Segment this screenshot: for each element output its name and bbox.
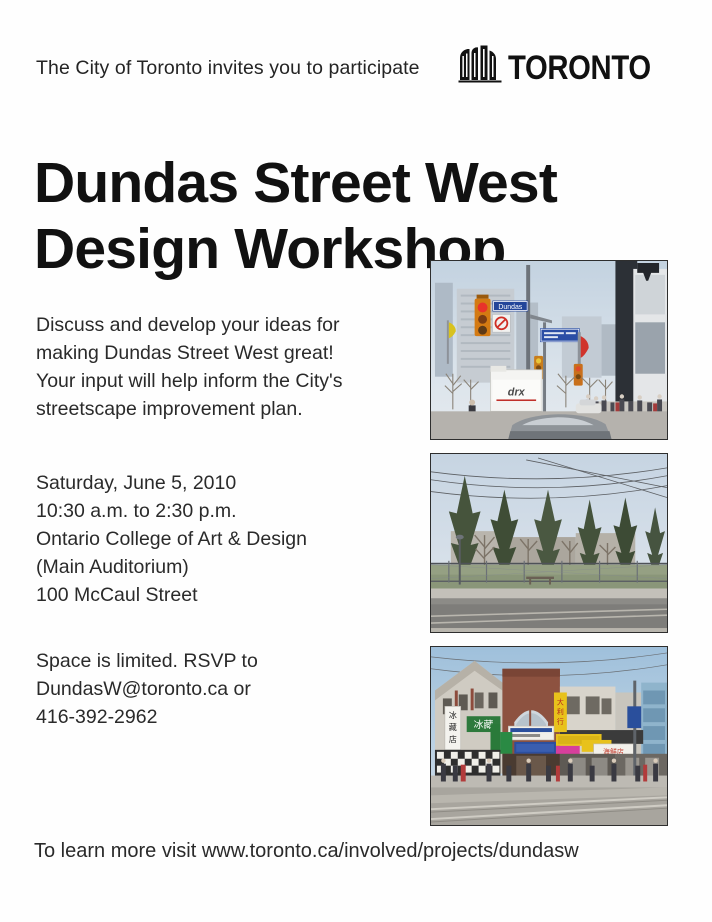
event-details: Saturday, June 5, 2010 10:30 a.m. to 2:3… [36,470,416,609]
invitation-tagline: The City of Toronto invites you to parti… [36,57,420,80]
poster-page: The City of Toronto invites you to parti… [0,0,712,922]
intro-line-3: Your input will help inform the City's [36,368,411,396]
intro-line-2: making Dundas Street West great! [36,340,411,368]
svg-text:店: 店 [449,734,457,744]
rsvp-line-1: Space is limited. RSVP to [36,648,416,676]
svg-text:Dundas: Dundas [498,304,522,311]
downtown-dundas-street-photo: Dundas [430,260,668,440]
svg-text:大: 大 [557,697,564,706]
rsvp-phone[interactable]: 416-392-2962 [36,704,416,732]
svg-text:利: 利 [557,707,564,716]
svg-text:drx: drx [508,387,526,399]
intro-line-4: streetscape improvement plan. [36,396,411,424]
svg-text:行: 行 [557,717,564,726]
svg-text:冰: 冰 [449,710,457,720]
event-address: 100 McCaul Street [36,582,416,610]
toronto-logo: TORONTO [458,44,674,84]
toronto-wordmark: TORONTO [508,53,651,84]
event-time: 10:30 a.m. to 2:30 p.m. [36,498,416,526]
park-and-streetcar-tracks-photo [430,453,668,633]
toronto-city-hall-towers-icon [458,44,502,84]
event-venue: Ontario College of Art & Design [36,526,416,554]
rsvp-block: Space is limited. RSVP to DundasW@toront… [36,648,416,732]
chinatown-storefronts-photo: 冰 藏 店 大 利 行 冰藏 海鮮店 [430,646,668,826]
intro-paragraph: Discuss and develop your ideas for makin… [36,312,411,424]
page-title-line-1: Dundas Street West [34,150,594,216]
event-room: (Main Auditorium) [36,554,416,582]
intro-line-1: Discuss and develop your ideas for [36,312,411,340]
rsvp-email[interactable]: DundasW@toronto.ca or [36,676,416,704]
footer-url[interactable]: To learn more visit www.toronto.ca/invol… [34,838,579,864]
event-date: Saturday, June 5, 2010 [36,470,416,498]
svg-text:藏: 藏 [449,722,457,732]
